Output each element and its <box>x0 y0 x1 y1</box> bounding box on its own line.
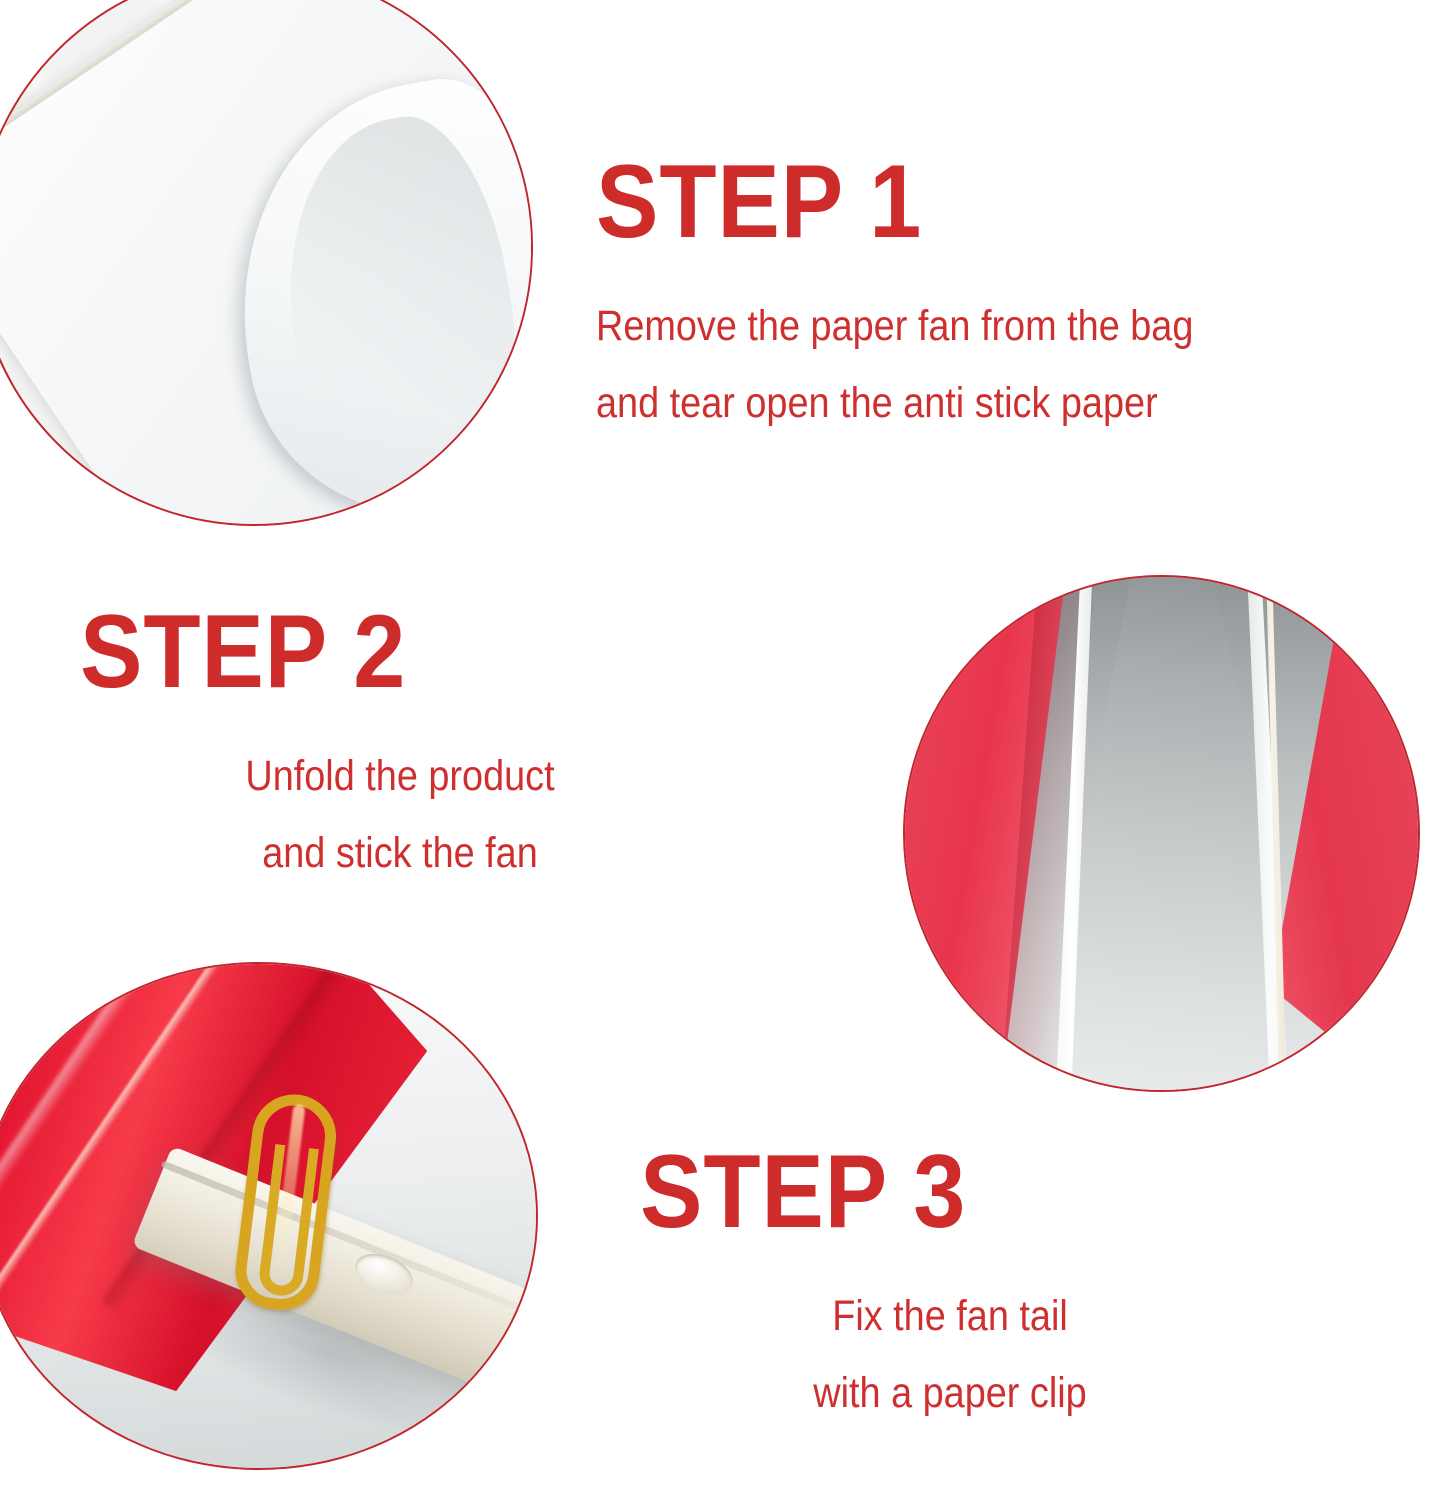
step1-description-line-2: and tear open the anti stick paper <box>596 365 1193 442</box>
instruction-infographic: { "theme": { "accent_red": "#CE2B2B", "b… <box>0 0 1439 1500</box>
step2-text-block: STEP 2 Unfold the product and stick the … <box>80 600 720 891</box>
step1-photo-circle <box>0 0 533 526</box>
step3-photo-content <box>0 964 536 1468</box>
step3-text-block: STEP 3 Fix the fan tail with a paper cli… <box>640 1140 1260 1431</box>
step2-photo-circle <box>903 575 1420 1092</box>
step3-title: STEP 3 <box>640 1140 1198 1244</box>
step3-photo-circle <box>0 962 538 1470</box>
step2-photo-content <box>905 577 1418 1090</box>
step3-description-line-1: Fix the fan tail <box>677 1278 1223 1355</box>
step2-description-line-2: and stick the fan <box>118 815 681 892</box>
step1-title: STEP 1 <box>596 150 1207 254</box>
step3-description-line-2: with a paper clip <box>677 1355 1223 1432</box>
step2-description: Unfold the product and stick the fan <box>118 738 681 891</box>
step2-description-line-1: Unfold the product <box>118 738 681 815</box>
step1-description-line-1: Remove the paper fan from the bag <box>596 288 1193 365</box>
step1-photo-content <box>0 0 531 524</box>
step2-title: STEP 2 <box>80 600 656 704</box>
step1-description: Remove the paper fan from the bag and te… <box>596 288 1193 441</box>
step3-description: Fix the fan tail with a paper clip <box>677 1278 1223 1431</box>
step1-text-block: STEP 1 Remove the paper fan from the bag… <box>596 150 1275 441</box>
